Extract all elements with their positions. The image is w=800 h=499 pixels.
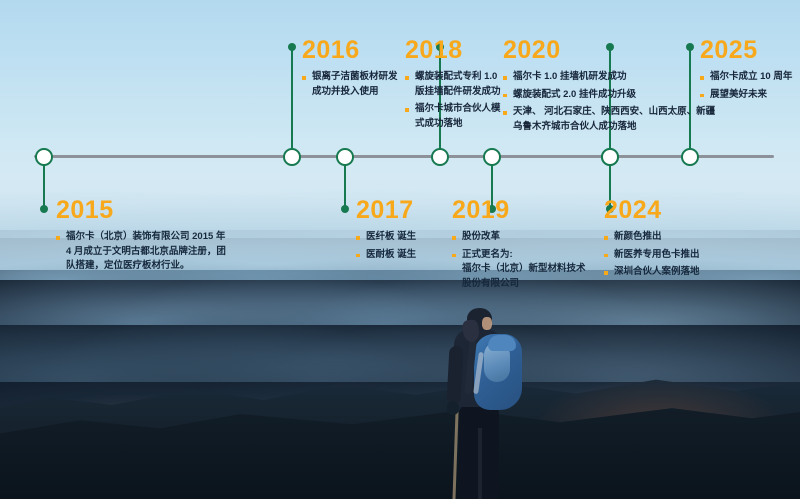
milestone-year-label: 2020 bbox=[503, 38, 715, 63]
stem-end-dot bbox=[341, 205, 349, 213]
hiker-face bbox=[482, 317, 492, 330]
milestone-2016[interactable]: 2016银离子洁菌板材研发成功并投入使用 bbox=[302, 38, 398, 102]
timeline-node-2018[interactable] bbox=[431, 148, 449, 166]
milestone-2019[interactable]: 2019股份改革正式更名为:福尔卡（北京）新型材料技术股份有限公司 bbox=[452, 198, 586, 295]
milestone-year-label: 2015 bbox=[56, 198, 226, 223]
bullet-continuation-line: 队搭建，定位医疗板材行业。 bbox=[66, 259, 226, 274]
milestone-bullet-list: 福尔卡（北京）装饰有限公司 2015 年4 月成立于文明古都北京品牌注册，团队搭… bbox=[56, 230, 226, 274]
bullet-continuation-line: 版挂墙配件研发成功 bbox=[415, 85, 501, 100]
milestone-bullet: 展望美好未来 bbox=[700, 88, 792, 103]
milestone-bullet: 股份改革 bbox=[452, 230, 586, 245]
stem-end-dot bbox=[40, 205, 48, 213]
milestone-bullet: 正式更名为:福尔卡（北京）新型材料技术股份有限公司 bbox=[452, 248, 586, 292]
milestone-year-label: 2016 bbox=[302, 38, 398, 63]
milestone-bullet: 天津、 河北石家庄、陕西西安、山西太原、新疆乌鲁木齐城市合伙人成功落地 bbox=[503, 105, 715, 134]
bullet-continuation-line: 乌鲁木齐城市合伙人成功落地 bbox=[513, 120, 715, 135]
milestone-bullet: 深圳合伙人案例落地 bbox=[604, 265, 700, 280]
hiker-hand bbox=[447, 401, 459, 415]
bullet-continuation-line: 成功并投入使用 bbox=[312, 85, 398, 100]
milestone-year-label: 2017 bbox=[356, 198, 416, 223]
milestone-year-label: 2024 bbox=[604, 198, 700, 223]
trekking-pole bbox=[452, 408, 458, 499]
milestone-bullet: 螺旋装配式 2.0 挂件成功升级 bbox=[503, 88, 715, 103]
timeline-stem-2016 bbox=[291, 47, 294, 157]
milestone-2017[interactable]: 2017医纤板 诞生医耐板 诞生 bbox=[356, 198, 416, 265]
milestone-bullet: 银离子洁菌板材研发成功并投入使用 bbox=[302, 70, 398, 99]
milestone-2018[interactable]: 2018螺旋装配式专利 1.0版挂墙配件研发成功福尔卡城市合伙人模式成功落地 bbox=[405, 38, 501, 135]
milestone-2025[interactable]: 2025福尔卡成立 10 周年展望美好未来 bbox=[700, 38, 792, 105]
milestone-year-label: 2025 bbox=[700, 38, 792, 63]
milestone-bullet: 医纤板 诞生 bbox=[356, 230, 416, 245]
bullet-continuation-line: 4 月成立于文明古都北京品牌注册，团 bbox=[66, 245, 226, 260]
milestone-bullet-list: 福尔卡 1.0 挂墙机研发成功螺旋装配式 2.0 挂件成功升级天津、 河北石家庄… bbox=[503, 70, 715, 135]
milestone-bullet: 医耐板 诞生 bbox=[356, 248, 416, 263]
timeline-axis bbox=[34, 155, 774, 158]
milestone-bullet-list: 新颜色推出新医养专用色卡推出深圳合伙人案例落地 bbox=[604, 230, 700, 280]
milestone-2020[interactable]: 2020福尔卡 1.0 挂墙机研发成功螺旋装配式 2.0 挂件成功升级天津、 河… bbox=[503, 38, 715, 138]
milestone-year-label: 2019 bbox=[452, 198, 586, 223]
hiker-figure bbox=[430, 308, 540, 499]
milestone-bullet: 福尔卡城市合伙人模式成功落地 bbox=[405, 102, 501, 131]
stem-end-dot bbox=[288, 43, 296, 51]
bullet-continuation-line: 股份有限公司 bbox=[462, 277, 586, 292]
milestone-bullet-list: 银离子洁菌板材研发成功并投入使用 bbox=[302, 70, 398, 99]
milestone-bullet-list: 股份改革正式更名为:福尔卡（北京）新型材料技术股份有限公司 bbox=[452, 230, 586, 292]
milestone-year-label: 2018 bbox=[405, 38, 501, 63]
timeline-node-2024[interactable] bbox=[601, 148, 619, 166]
timeline-infographic: 2015福尔卡（北京）装饰有限公司 2015 年4 月成立于文明古都北京品牌注册… bbox=[0, 0, 800, 499]
timeline-node-2015[interactable] bbox=[35, 148, 53, 166]
milestone-bullet: 福尔卡（北京）装饰有限公司 2015 年4 月成立于文明古都北京品牌注册，团队搭… bbox=[56, 230, 226, 274]
milestone-bullet: 螺旋装配式专利 1.0版挂墙配件研发成功 bbox=[405, 70, 501, 99]
backpack-lid bbox=[488, 335, 516, 351]
bullet-continuation-line: 福尔卡（北京）新型材料技术 bbox=[462, 262, 586, 277]
milestone-bullet: 福尔卡成立 10 周年 bbox=[700, 70, 792, 85]
timeline-node-2016[interactable] bbox=[283, 148, 301, 166]
milestone-bullet-list: 医纤板 诞生医耐板 诞生 bbox=[356, 230, 416, 262]
milestone-bullet: 新颜色推出 bbox=[604, 230, 700, 245]
timeline-node-2017[interactable] bbox=[336, 148, 354, 166]
milestone-bullet: 新医养专用色卡推出 bbox=[604, 248, 700, 263]
milestone-2024[interactable]: 2024新颜色推出新医养专用色卡推出深圳合伙人案例落地 bbox=[604, 198, 700, 283]
milestone-bullet: 福尔卡 1.0 挂墙机研发成功 bbox=[503, 70, 715, 85]
milestone-bullet-list: 螺旋装配式专利 1.0版挂墙配件研发成功福尔卡城市合伙人模式成功落地 bbox=[405, 70, 501, 132]
hiker-leg-split bbox=[478, 428, 482, 499]
timeline-node-2025[interactable] bbox=[681, 148, 699, 166]
bullet-continuation-line: 式成功落地 bbox=[415, 117, 501, 132]
milestone-2015[interactable]: 2015福尔卡（北京）装饰有限公司 2015 年4 月成立于文明古都北京品牌注册… bbox=[56, 198, 226, 277]
timeline-node-2019[interactable] bbox=[483, 148, 501, 166]
milestone-bullet-list: 福尔卡成立 10 周年展望美好未来 bbox=[700, 70, 792, 102]
